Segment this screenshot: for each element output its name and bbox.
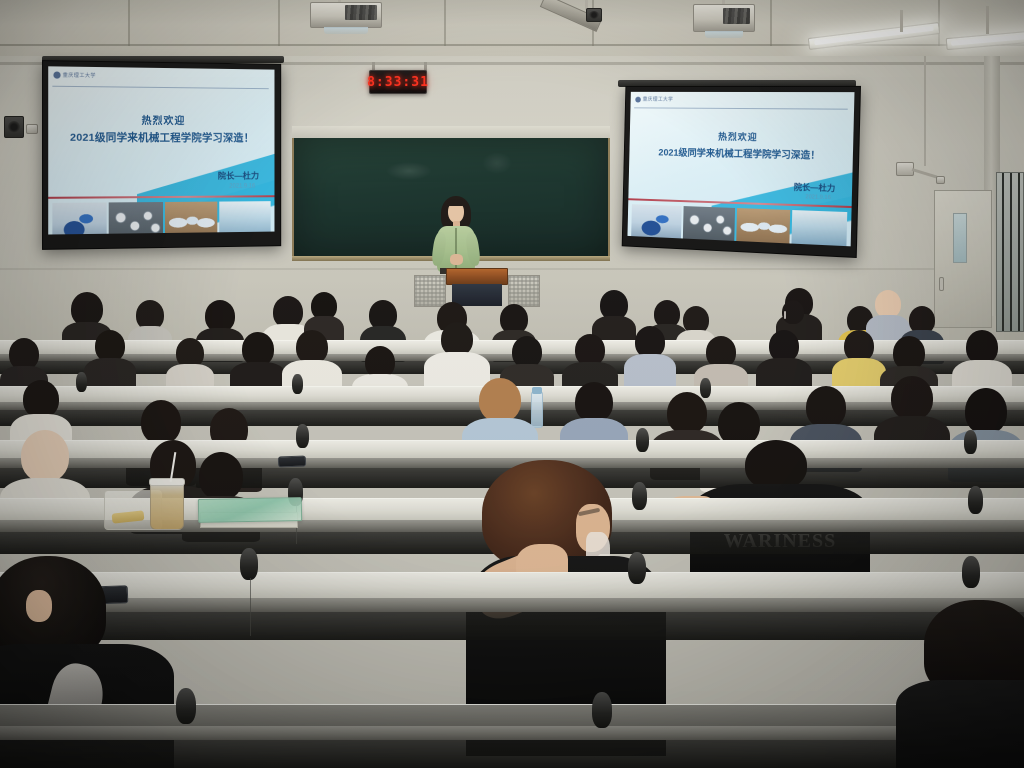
audience-person — [624, 326, 676, 386]
person-head — [199, 452, 243, 500]
slide-date: 2021.9.16 — [805, 194, 831, 201]
slide-photo-strip — [52, 201, 270, 234]
slide-photo-humanoid-robots — [164, 202, 217, 235]
slide-presenter: 院长—杜力 — [794, 182, 836, 194]
person-head — [71, 292, 103, 326]
security-camera — [26, 124, 38, 134]
audience-person — [166, 338, 214, 392]
person-head — [296, 330, 328, 364]
lecture-hall-photo: 重庆理工大学 热烈欢迎 2021级同学来机械工程学院学习深造！ 院长—杜力 20… — [0, 0, 1024, 768]
slide-logo-text: 重庆理工大学 — [63, 72, 96, 80]
clock-time: 8:33:31 — [367, 75, 429, 90]
desk-microphone — [636, 428, 649, 452]
ceiling-speaker — [586, 8, 602, 22]
university-logo-icon — [635, 96, 641, 102]
led-wall-clock: 8:33:31 — [369, 70, 427, 94]
wall-strip — [292, 126, 610, 138]
slide-title: 热烈欢迎 — [630, 129, 854, 145]
desk-microphone — [968, 486, 983, 514]
ceiling-panel-line — [128, 0, 130, 46]
person-head — [23, 380, 59, 418]
slide-photo-lab — [219, 201, 271, 234]
slide-logo-rule — [52, 86, 268, 89]
grille-bar — [1002, 173, 1004, 331]
security-camera — [936, 176, 945, 184]
slide-presenter: 院长—杜力 — [218, 170, 259, 182]
projector-vent — [345, 5, 377, 20]
person-head — [441, 322, 473, 356]
slide-logo: 重庆理工大学 — [53, 71, 95, 79]
drink-cup — [150, 482, 184, 530]
slide-photo-lab — [791, 210, 847, 246]
person-head — [806, 386, 846, 428]
light-mount — [986, 6, 989, 34]
slide-logo-rule — [634, 107, 848, 109]
lecture-podium — [446, 268, 508, 285]
desk-microphone — [76, 372, 87, 392]
light-mount — [900, 10, 903, 32]
ceiling-seam — [0, 44, 1024, 46]
person-head — [21, 430, 69, 482]
presenter-hands — [450, 254, 463, 265]
slide-photo-gears — [683, 206, 735, 242]
camera-cable — [924, 56, 926, 166]
desk-microphone — [176, 688, 196, 724]
desk-microphone — [962, 556, 980, 588]
microphone-cable — [250, 578, 251, 636]
grille-bar — [1010, 173, 1012, 331]
audience-person-foreground-right — [896, 600, 1024, 768]
cup-lid — [149, 478, 185, 486]
person-torso — [896, 680, 1024, 768]
right-projection-screen[interactable]: 重庆理工大学 热烈欢迎 2021级同学来机械工程学院学习深造！ 院长—杜力 20… — [622, 86, 861, 258]
door-handle[interactable] — [939, 277, 944, 291]
audience-person — [282, 330, 342, 392]
slide-subtitle: 2021级同学来机械工程学院学习深造！ — [629, 144, 853, 162]
person-head — [479, 378, 521, 422]
desk-microphone — [592, 692, 612, 728]
chalk-smudge — [386, 162, 432, 180]
ceiling-panel-line — [770, 0, 772, 46]
person-head — [893, 336, 925, 370]
left-slide: 重庆理工大学 热烈欢迎 2021级同学来机械工程学院学习深造！ 院长—杜力 20… — [48, 66, 274, 234]
podium-speaker-right — [508, 275, 540, 307]
university-logo-icon — [53, 71, 60, 78]
slide-date: 2021.9.16 — [229, 184, 255, 190]
ceiling-panel-line — [278, 0, 280, 46]
desk-microphone — [628, 552, 646, 584]
audience-person — [84, 330, 136, 386]
desk-row — [0, 704, 1024, 768]
right-slide: 重庆理工大学 热烈欢迎 2021级同学来机械工程学院学习深造！ 院长—杜力 20… — [627, 92, 854, 246]
person-head — [891, 376, 933, 420]
person-head — [875, 290, 901, 318]
slide-logo-text: 重庆理工大学 — [643, 96, 674, 103]
slide-photo-strip — [631, 204, 847, 246]
person-head — [242, 332, 274, 366]
desk-microphone — [292, 374, 303, 394]
smartphone[interactable] — [278, 456, 306, 468]
slide-photo-robot-vehicle — [631, 204, 682, 239]
left-projection-screen[interactable]: 重庆理工大学 热烈欢迎 2021级同学来机械工程学院学习深造！ 院长—杜力 20… — [42, 60, 281, 250]
green-folder — [198, 497, 302, 523]
desk-microphone — [296, 424, 309, 448]
wall-speaker — [4, 116, 24, 138]
audience-person — [756, 330, 812, 392]
ceiling-projector-right — [693, 4, 755, 32]
projector-vent — [723, 8, 751, 24]
desk-underside — [0, 740, 1024, 768]
person-head — [745, 440, 807, 490]
slide-subtitle: 2021级同学来机械工程学院学习深造！ — [48, 130, 274, 146]
person-head — [965, 388, 1007, 434]
desk-edge — [0, 726, 1024, 740]
desk-microphone — [964, 430, 977, 454]
person-head — [575, 382, 613, 422]
slide-title: 热烈欢迎 — [48, 111, 274, 127]
chalk-smudge — [482, 152, 512, 174]
person-head — [141, 400, 181, 444]
slide-photo-gears — [109, 202, 163, 235]
grille-bar — [1018, 173, 1020, 331]
audience-person — [230, 332, 286, 390]
person-torso — [624, 354, 676, 390]
door-window — [953, 213, 967, 263]
slide-logo: 重庆理工大学 — [635, 96, 673, 103]
slide-photo-robot-vehicle — [52, 202, 107, 234]
face-mask-strap — [784, 311, 786, 319]
slide-photo-humanoid-robots — [736, 208, 790, 244]
ceiling-panel-line — [444, 0, 446, 46]
window-grille — [996, 172, 1024, 332]
ceiling-projector-left — [310, 2, 382, 28]
presenter-bangs — [447, 199, 465, 206]
person-ear — [26, 590, 52, 622]
wall-rail — [0, 268, 1024, 270]
person-head — [966, 330, 998, 364]
desk-surface — [0, 704, 1024, 726]
desk-microphone — [240, 548, 258, 580]
